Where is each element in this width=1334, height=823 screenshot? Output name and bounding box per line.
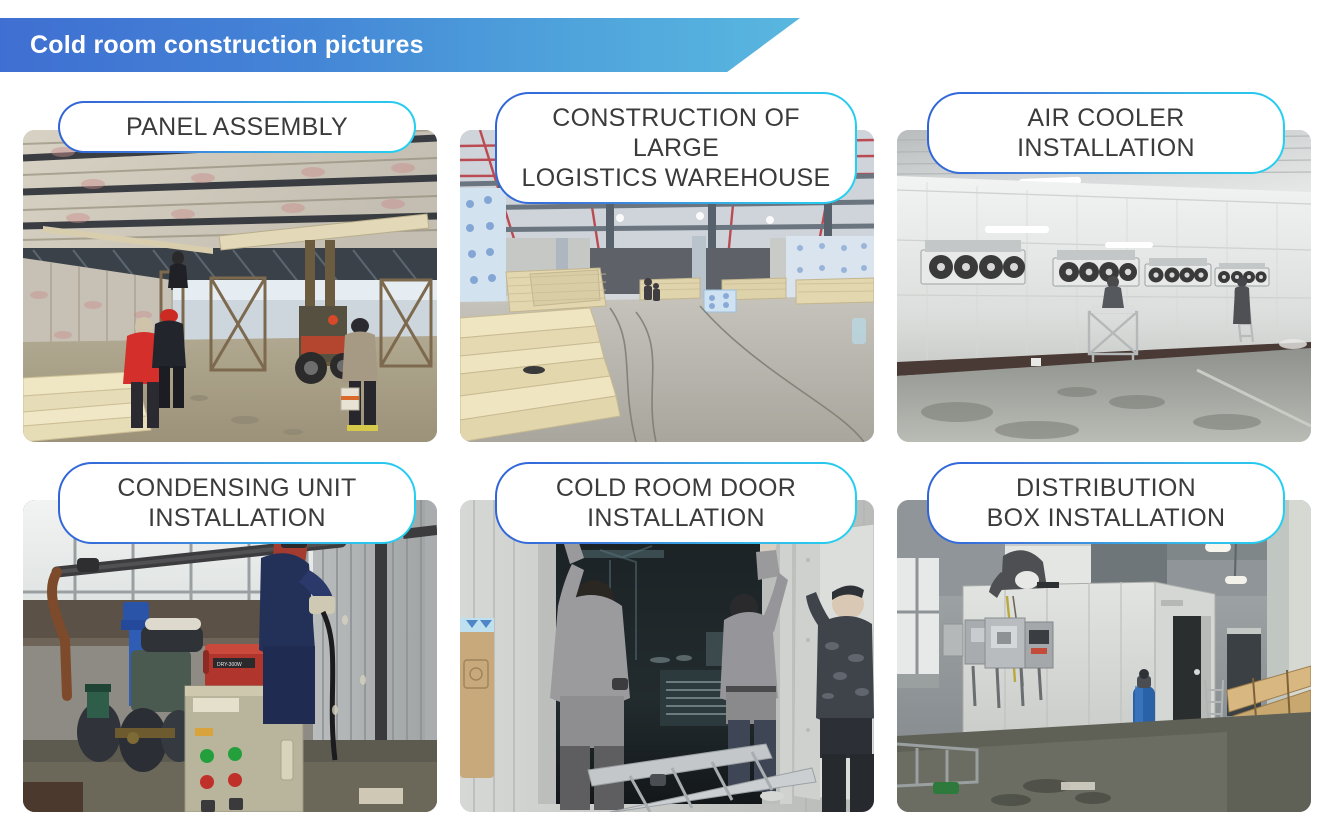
cold-room-door-photo	[460, 500, 874, 812]
gallery-grid: PANEL ASSEMBLY	[23, 130, 1311, 810]
panel-assembly-photo	[23, 130, 437, 442]
gallery-card-air-cooler[interactable]: AIR COOLER INSTALLATION	[897, 130, 1311, 442]
cold-room-gallery-page: Cold room construction pictures	[0, 0, 1334, 823]
gallery-card-label-text: COLD ROOM DOOR INSTALLATION	[513, 473, 839, 533]
distribution-box-photo	[897, 500, 1311, 812]
gallery-card-label: DISTRIBUTION BOX INSTALLATION	[927, 462, 1285, 544]
gallery-card-label-text: CONSTRUCTION OF LARGE LOGISTICS WAREHOUS…	[513, 103, 839, 193]
svg-text:DRY-300W: DRY-300W	[217, 662, 242, 668]
air-cooler-photo	[897, 130, 1311, 442]
gallery-card-label: COLD ROOM DOOR INSTALLATION	[495, 462, 857, 544]
gallery-card-label: PANEL ASSEMBLY	[58, 101, 416, 153]
page-title: Cold room construction pictures	[30, 18, 424, 72]
gallery-card-label-text: PANEL ASSEMBLY	[76, 112, 398, 142]
gallery-card-condensing-unit[interactable]: DRY-300W	[23, 500, 437, 812]
gallery-card-cold-room-door[interactable]: COLD ROOM DOOR INSTALLATION	[460, 500, 874, 812]
gallery-card-panel-assembly[interactable]: PANEL ASSEMBLY	[23, 130, 437, 442]
header-banner: Cold room construction pictures	[0, 18, 800, 72]
gallery-card-label-text: AIR COOLER INSTALLATION	[945, 103, 1267, 163]
gallery-card-logistics-warehouse[interactable]: CONSTRUCTION OF LARGE LOGISTICS WAREHOUS…	[460, 130, 874, 442]
condensing-unit-photo: DRY-300W	[23, 500, 437, 812]
gallery-card-label-text: CONDENSING UNIT INSTALLATION	[76, 473, 398, 533]
gallery-card-label: CONDENSING UNIT INSTALLATION	[58, 462, 416, 544]
gallery-card-distribution-box[interactable]: DISTRIBUTION BOX INSTALLATION	[897, 500, 1311, 812]
gallery-card-label-text: DISTRIBUTION BOX INSTALLATION	[945, 473, 1267, 533]
gallery-card-label: AIR COOLER INSTALLATION	[927, 92, 1285, 174]
gallery-card-label: CONSTRUCTION OF LARGE LOGISTICS WAREHOUS…	[495, 92, 857, 204]
